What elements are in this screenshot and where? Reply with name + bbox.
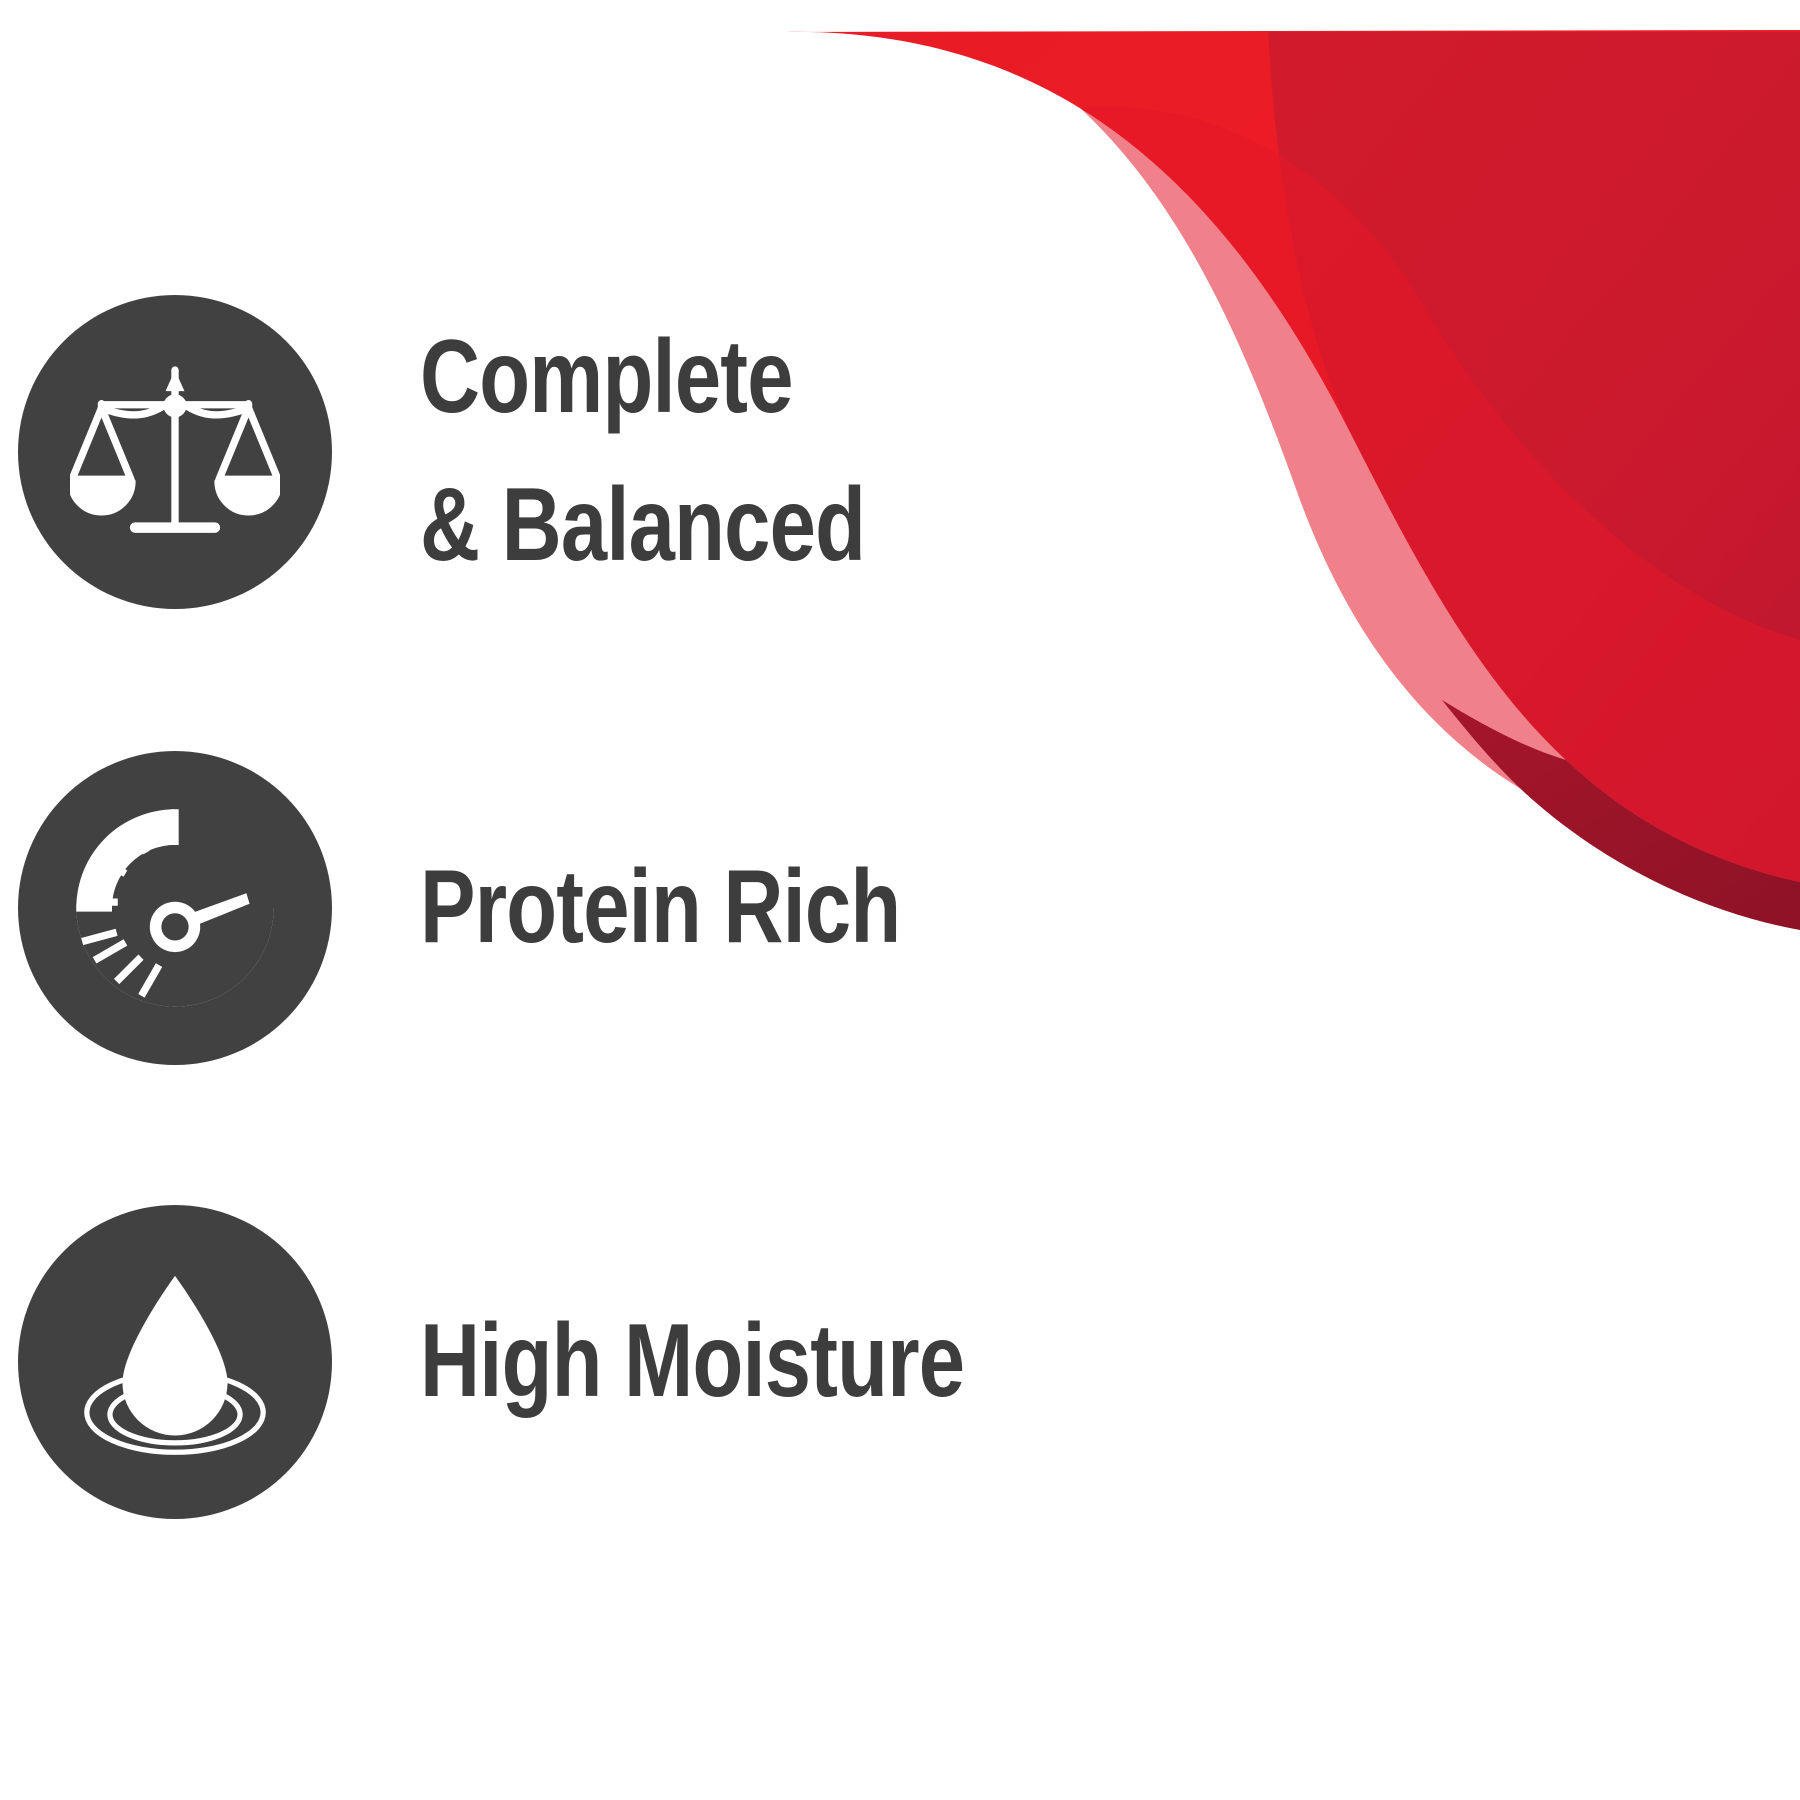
balance-scale-icon bbox=[70, 347, 280, 557]
feature-row: Protein Rich bbox=[0, 748, 1800, 1068]
water-drop-ripple-badge bbox=[18, 1205, 332, 1519]
water-drop-ripple-icon bbox=[70, 1257, 280, 1467]
feature-row: Complete & Balanced bbox=[0, 292, 1800, 612]
feature-label-complete-balanced: Complete & Balanced bbox=[420, 304, 1524, 599]
speedometer-gauge-badge bbox=[18, 751, 332, 1065]
balance-scale-badge bbox=[18, 295, 332, 609]
feature-label-protein-rich: Protein Rich bbox=[420, 834, 1524, 982]
feature-graphic-canvas: Complete & Balanced bbox=[0, 0, 1800, 1800]
feature-row: High Moisture bbox=[0, 1202, 1800, 1522]
speedometer-gauge-icon bbox=[70, 803, 280, 1013]
feature-label-high-moisture: High Moisture bbox=[420, 1288, 1524, 1436]
